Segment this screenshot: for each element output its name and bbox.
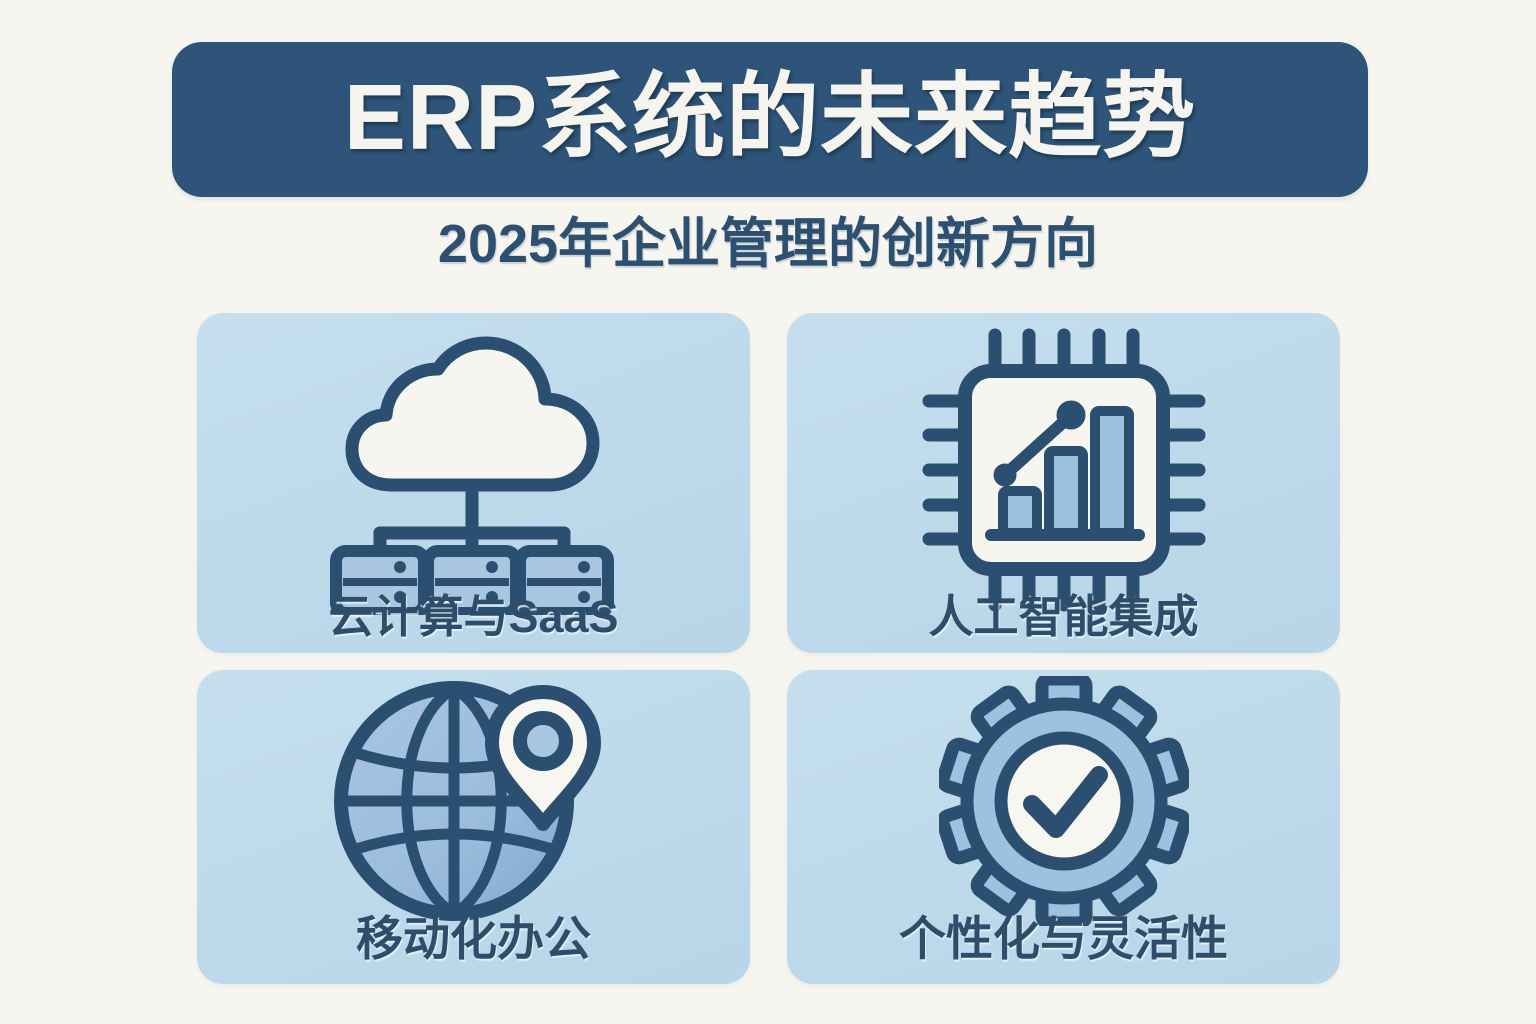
infographic-poster: ERP系统的未来趋势 2025年企业管理的创新方向	[0, 0, 1536, 1024]
cloud-servers-icon	[197, 325, 750, 615]
title-banner: ERP系统的未来趋势	[172, 42, 1368, 197]
feature-card-label: 云计算与SaaS	[197, 594, 750, 639]
ai-chip-chart-icon	[787, 325, 1340, 615]
feature-card-label: 人工智能集成	[787, 594, 1340, 639]
feature-card-label: 移动化办公	[197, 915, 750, 962]
page-subtitle: 2025年企业管理的创新方向	[0, 216, 1536, 273]
feature-card-cloud-saas[interactable]: 云计算与SaaS	[197, 313, 750, 653]
feature-card-mobile-office[interactable]: 移动化办公	[197, 670, 750, 984]
feature-card-label: 个性化与灵活性	[787, 915, 1340, 962]
feature-card-personalization[interactable]: 个性化与灵活性	[787, 670, 1340, 984]
globe-location-pin-icon	[197, 676, 750, 926]
feature-card-ai-integration[interactable]: 人工智能集成	[787, 313, 1340, 653]
feature-card-grid: 云计算与SaaS	[197, 313, 1340, 984]
gear-checkmark-icon	[787, 676, 1340, 926]
page-title: ERP系统的未来趋势	[344, 71, 1196, 164]
